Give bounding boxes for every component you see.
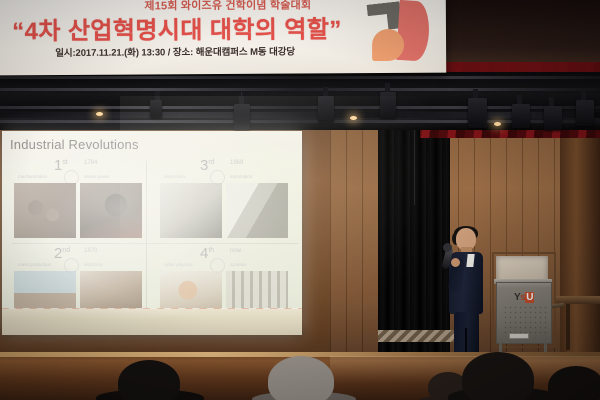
presenter-hand [451, 258, 460, 267]
quadrant-3-era: 1969 [230, 160, 243, 166]
stage-light-7 [576, 100, 594, 126]
presenter-shirt [466, 254, 474, 267]
audience-head-4 [462, 352, 534, 400]
university-logo-icon [366, 0, 440, 67]
podium-nameplate [509, 333, 529, 339]
projection-screen: Industrial Revolutions 1st 1784 mechaniz… [2, 131, 302, 335]
lamp-glow-right [494, 122, 501, 126]
quadrant-3-tag-right: automation [230, 174, 252, 179]
audience-head-2 [268, 356, 334, 400]
quadrant-4-era: now [230, 248, 241, 254]
slide-title: Industrial Revolutions [10, 137, 139, 152]
quadrant-2-tag-left: mass production [18, 262, 51, 267]
stage-light-2 [318, 96, 334, 122]
podium-logo-u: U [525, 292, 534, 303]
curtain-hem [378, 330, 456, 342]
banner-title-text: “4차 산업혁명시대 대학의 역할” [0, 9, 360, 46]
presenter [446, 228, 488, 356]
quadrant-3-tag-left: electronics [164, 174, 186, 179]
slide-quadrant-3: 3rd 1969 electronics automation [154, 157, 294, 241]
quadrant-1-photo-left [14, 183, 76, 238]
slide-divider-horizontal [12, 243, 298, 244]
lamp-glow-left [96, 112, 103, 116]
logo-gray-hook-shape [366, 1, 402, 31]
presenter-leg-split [465, 328, 467, 354]
stage-light-6 [544, 106, 562, 130]
podium-front-panel: YsU [496, 282, 552, 344]
lighting-truss [0, 72, 600, 130]
audience-head-5 [548, 366, 600, 400]
slide-quadrant-1: 1st 1784 mechanization steam power [8, 157, 148, 241]
conference-banner: 제15회 와이즈유 건학이념 학술대회 “4차 산업혁명시대 대학의 역할” 일… [0, 0, 446, 75]
truss-rail [0, 112, 600, 118]
lamp-glow-mid [350, 116, 357, 120]
stage-light-8 [150, 100, 162, 118]
side-table-leg [566, 304, 570, 350]
quadrant-1-tag-right: steam power [84, 174, 110, 179]
truss-bar-bottom [0, 120, 600, 123]
podium: YsU [494, 282, 552, 360]
microphone-capsule [443, 243, 452, 252]
stage-light-3 [380, 92, 396, 118]
banner-subtitle-text: 일시:2017.11.21.(화) 13:30 / 장소: 해운대캠퍼스 M동 … [0, 43, 356, 59]
quadrant-2-era: 1870 [84, 248, 97, 254]
stage-light-5 [512, 104, 530, 128]
black-stage-curtain [378, 104, 450, 356]
slide-bottom-strip [2, 309, 302, 335]
audience-head-1 [118, 360, 180, 400]
quadrant-3-photo-right [226, 183, 288, 238]
quadrant-4-tag-left: cyber physical [164, 262, 193, 267]
truss-bar-lower [0, 106, 600, 109]
truss-bar-upper [0, 76, 600, 79]
stage-light-1 [234, 104, 250, 130]
podium-logo: YsU [497, 292, 551, 303]
quadrant-3-photo-left [160, 183, 222, 238]
quadrant-2-tag-right: electricity [84, 262, 103, 267]
stage-light-4 [468, 98, 487, 128]
truss-bar-mid [0, 88, 600, 91]
quadrant-1-era: 1784 [84, 160, 97, 166]
quadrant-1-photo-right [80, 183, 142, 238]
auditorium-photo: 제15회 와이즈유 건학이념 학술대회 “4차 산업혁명시대 대학의 역할” 일… [0, 0, 600, 400]
logo-orange-bulb-shape [372, 29, 404, 61]
quadrant-4-tag-right: systems [230, 262, 247, 267]
quadrant-1-tag-left: mechanization [18, 174, 47, 179]
